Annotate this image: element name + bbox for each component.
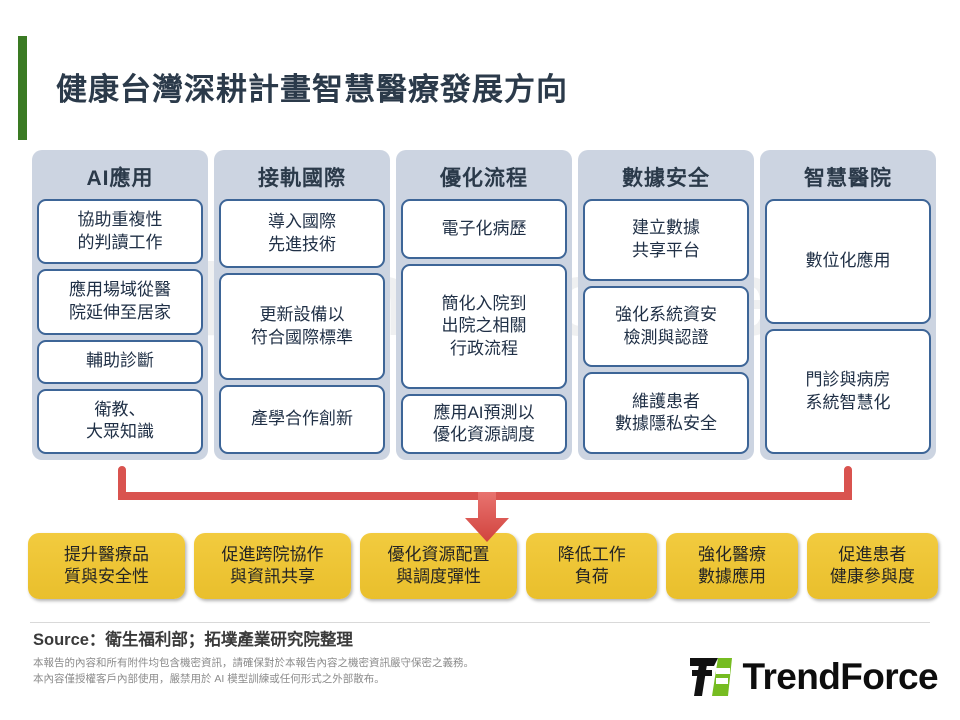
page-title: 健康台灣深耕計畫智慧醫療發展方向 xyxy=(56,64,568,109)
trendforce-logo: TrendForce xyxy=(688,652,939,702)
list-item[interactable]: 電子化病歷 xyxy=(401,199,567,259)
list-item[interactable]: 產學合作創新 xyxy=(219,385,385,454)
category-items-international: 導入國際 先進技術 更新設備以 符合國際標準 產學合作創新 xyxy=(219,199,385,454)
category-columns: AI應用 協助重複性 的判讀工作 應用場域從醫 院延伸至居家 輔助診斷 衛教、 … xyxy=(32,150,942,460)
category-header-smart-hospital: 智慧醫院 xyxy=(765,155,931,199)
category-column-ai: AI應用 協助重複性 的判讀工作 應用場域從醫 院延伸至居家 輔助診斷 衛教、 … xyxy=(32,150,208,460)
category-items-smart-hospital: 數位化應用 門診與病房 系統智慧化 xyxy=(765,199,931,454)
category-column-international: 接軌國際 導入國際 先進技術 更新設備以 符合國際標準 產學合作創新 xyxy=(214,150,390,460)
category-items-process: 電子化病歷 簡化入院到 出院之相關 行政流程 應用AI預測以 優化資源調度 xyxy=(401,199,567,454)
category-header-international: 接軌國際 xyxy=(219,155,385,199)
list-item[interactable]: 協助重複性 的判讀工作 xyxy=(37,199,203,264)
outcome-box[interactable]: 降低工作 負荷 xyxy=(526,533,657,599)
list-item[interactable]: 應用場域從醫 院延伸至居家 xyxy=(37,269,203,334)
category-header-data-security: 數據安全 xyxy=(583,155,749,199)
category-header-process: 優化流程 xyxy=(401,155,567,199)
list-item[interactable]: 門診與病房 系統智慧化 xyxy=(765,329,931,454)
outcome-box[interactable]: 強化醫療 數據應用 xyxy=(666,533,797,599)
category-column-data-security: 數據安全 建立數據 共享平台 強化系統資安 檢測與認證 維護患者 數據隱私安全 xyxy=(578,150,754,460)
list-item[interactable]: 強化系統資安 檢測與認證 xyxy=(583,286,749,368)
list-item[interactable]: 衛教、 大眾知識 xyxy=(37,389,203,454)
list-item[interactable]: 應用AI預測以 優化資源調度 xyxy=(401,394,567,454)
list-item[interactable]: 建立數據 共享平台 xyxy=(583,199,749,281)
category-items-data-security: 建立數據 共享平台 強化系統資安 檢測與認證 維護患者 數據隱私安全 xyxy=(583,199,749,454)
list-item[interactable]: 維護患者 數據隱私安全 xyxy=(583,372,749,454)
confidentiality-disclaimer: 本報告的內容和所有附件均包含機密資訊，請確保對於本報告內容之機密資訊嚴守保密之義… xyxy=(33,655,474,688)
footer-divider xyxy=(30,622,930,623)
outcome-box[interactable]: 促進跨院協作 與資訊共享 xyxy=(194,533,351,599)
title-accent-bar xyxy=(18,36,27,140)
list-item[interactable]: 簡化入院到 出院之相關 行政流程 xyxy=(401,264,567,389)
list-item[interactable]: 數位化應用 xyxy=(765,199,931,324)
list-item[interactable]: 導入國際 先進技術 xyxy=(219,199,385,268)
outcome-box[interactable]: 促進患者 健康參與度 xyxy=(807,533,938,599)
category-column-process: 優化流程 電子化病歷 簡化入院到 出院之相關 行政流程 應用AI預測以 優化資源… xyxy=(396,150,572,460)
list-item[interactable]: 輔助診斷 xyxy=(37,340,203,384)
category-column-smart-hospital: 智慧醫院 數位化應用 門診與病房 系統智慧化 xyxy=(760,150,936,460)
category-header-ai: AI應用 xyxy=(37,155,203,199)
outcome-box[interactable]: 提升醫療品 質與安全性 xyxy=(28,533,185,599)
source-label: Source：衛生福利部；拓墣產業研究院整理 xyxy=(33,626,353,650)
trendforce-logo-text: TrendForce xyxy=(743,656,939,698)
down-arrow-icon xyxy=(462,492,512,544)
list-item[interactable]: 更新設備以 符合國際標準 xyxy=(219,273,385,379)
category-items-ai: 協助重複性 的判讀工作 應用場域從醫 院延伸至居家 輔助診斷 衛教、 大眾知識 xyxy=(37,199,203,454)
trendforce-logo-mark xyxy=(688,654,734,700)
title-area: 健康台灣深耕計畫智慧醫療發展方向 xyxy=(18,36,918,140)
